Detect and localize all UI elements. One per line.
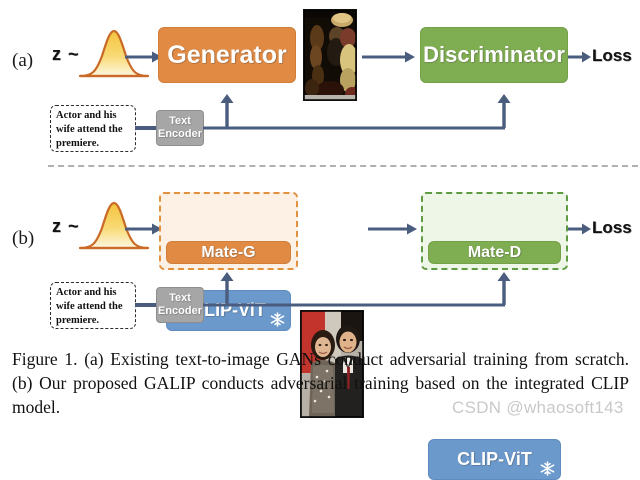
generator-block[interactable]: Generator: [158, 27, 296, 83]
generated-image-a: [303, 9, 357, 101]
encoder-routing-a: [203, 94, 513, 138]
noise-symbol-b: z ~: [52, 216, 80, 237]
prompt-text-box-b: Actor and his wife attend the premiere.: [50, 282, 136, 329]
arrow-image-to-discriminator-b: [368, 222, 418, 236]
mate-g-block[interactable]: Mate-G: [166, 241, 291, 264]
arrow-noise-to-generator-b: [125, 222, 163, 236]
text-encoder-block-b[interactable]: Text Encoder: [156, 287, 204, 323]
row-label-b: (b): [12, 228, 34, 250]
row-divider: [48, 165, 638, 167]
clip-vit-label-discriminator: CLIP-ViT: [457, 449, 532, 470]
prompt-text-box-a: Actor and his wife attend the premiere.: [50, 105, 136, 152]
discriminator-block[interactable]: Discriminator: [420, 27, 568, 83]
arrow-discriminator-to-loss-b: [568, 222, 592, 236]
snowflake-icon: [540, 461, 555, 476]
arrow-discriminator-to-loss-a: [568, 50, 592, 64]
mate-d-block[interactable]: Mate-D: [428, 241, 561, 264]
connector-prompt-to-encoder-a: [135, 126, 158, 130]
loss-label-a: Loss: [592, 46, 632, 66]
arrow-image-to-discriminator-a: [362, 50, 416, 64]
text-encoder-block-a[interactable]: Text Encoder: [156, 110, 204, 146]
loss-label-b: Loss: [592, 218, 632, 238]
figure-1-diagram: (a) z ~ Generator: [0, 0, 640, 427]
encoder-routing-b: [203, 272, 513, 315]
clip-vit-block-discriminator[interactable]: CLIP-ViT: [428, 439, 561, 480]
noise-symbol-a: z ~: [52, 44, 80, 65]
watermark-text: CSDN @whaosoft143: [452, 398, 624, 418]
row-label-a: (a): [12, 50, 33, 72]
text-encoder-label-a: Text Encoder: [158, 115, 202, 141]
connector-prompt-to-encoder-b: [135, 303, 158, 307]
text-encoder-label-b: Text Encoder: [158, 292, 202, 318]
